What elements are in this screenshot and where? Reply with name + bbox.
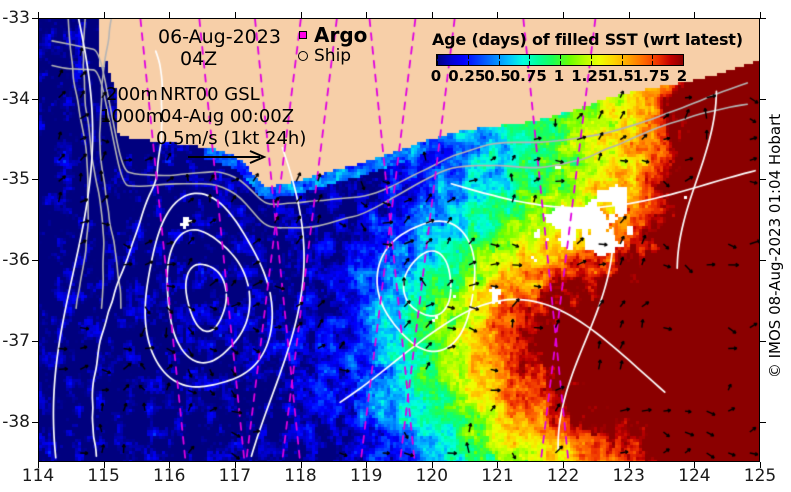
x-tick — [235, 12, 236, 18]
x-tick-label-8: 122 — [547, 466, 579, 486]
y-tick-label-2: -35 — [0, 169, 30, 189]
colorbar-tick-4: 1 — [554, 67, 564, 85]
x-tick — [432, 12, 433, 18]
current-valid-time-label: 04-Aug 00:00Z — [160, 106, 294, 127]
x-tick-label-5: 119 — [350, 466, 382, 486]
colorbar-ticks — [437, 55, 683, 65]
y-tick-label-1: -34 — [0, 89, 30, 109]
x-tick-label-1: 115 — [87, 466, 119, 486]
x-tick — [694, 12, 695, 18]
y-tick — [32, 179, 38, 180]
x-tick — [366, 12, 367, 18]
y-tick-label-0: -33 — [0, 8, 30, 28]
right-arrow-icon — [186, 150, 270, 164]
y-tick-label-4: -37 — [0, 331, 30, 351]
x-tick — [497, 12, 498, 18]
legend-item-ship: Ship — [292, 45, 367, 66]
y-tick-label-5: -38 — [0, 412, 30, 432]
x-tick — [301, 12, 302, 18]
x-tick-label-2: 116 — [153, 466, 185, 486]
x-tick — [563, 12, 564, 18]
legend-label-ship: Ship — [314, 46, 351, 66]
y-tick — [32, 422, 38, 423]
y-tick — [32, 341, 38, 342]
ship-marker-icon — [292, 51, 314, 61]
legend-label-argo: Argo — [314, 23, 367, 47]
x-tick — [38, 12, 39, 18]
colorbar-tick-8: 2 — [677, 67, 687, 85]
colorbar: Age (days) of filled SST (wrt latest) 00… — [432, 30, 688, 87]
y-tick-label-3: -36 — [0, 250, 30, 270]
depth-label-200m: 200m — [106, 84, 158, 105]
x-tick-label-9: 123 — [612, 466, 644, 486]
y-tick — [32, 260, 38, 261]
depth-label-1000m: 1000m — [100, 106, 163, 127]
colorbar-tick-5: 1.25 — [571, 67, 608, 85]
x-tick — [169, 12, 170, 18]
sst-age-map-figure: 06-Aug-2023 04Z 200m 1000m NRT00 GSL 04-… — [0, 0, 791, 492]
colorbar-tick-labels: 00.250.50.7511.251.51.752 — [432, 67, 688, 87]
colorbar-title: Age (days) of filled SST (wrt latest) — [432, 30, 688, 49]
x-tick-label-3: 117 — [219, 466, 251, 486]
legend-item-argo: Argo — [292, 24, 367, 45]
current-product-label: NRT00 GSL — [160, 84, 260, 105]
colorbar-tick-1: 0.25 — [448, 67, 485, 85]
current-scale-label: 0.5m/s (1kt 24h) — [156, 128, 306, 149]
argo-marker-icon — [292, 31, 314, 39]
copyright-credit: © IMOS 08-Aug-2023 01:04 Hobart — [762, 0, 788, 492]
colorbar-tick-3: 0.75 — [510, 67, 547, 85]
x-tick-label-10: 124 — [678, 466, 710, 486]
x-tick-label-6: 120 — [416, 466, 448, 486]
y-tick — [32, 99, 38, 100]
colorbar-tick-0: 0 — [431, 67, 441, 85]
x-tick-label-0: 114 — [22, 466, 54, 486]
marker-legend: Argo Ship — [292, 24, 367, 66]
y-tick — [32, 18, 38, 19]
x-tick — [104, 12, 105, 18]
map-time-label: 04Z — [180, 48, 217, 70]
map-date-label: 06-Aug-2023 — [158, 26, 281, 48]
colorbar-tick-2: 0.5 — [484, 67, 511, 85]
x-tick-label-7: 121 — [481, 466, 513, 486]
colorbar-tick-6: 1.5 — [607, 67, 634, 85]
x-tick-label-4: 118 — [284, 466, 316, 486]
colorbar-tick-7: 1.75 — [633, 67, 670, 85]
credit-text: © IMOS 08-Aug-2023 01:04 Hobart — [766, 114, 784, 378]
x-tick — [629, 12, 630, 18]
colorbar-gradient — [436, 54, 684, 66]
